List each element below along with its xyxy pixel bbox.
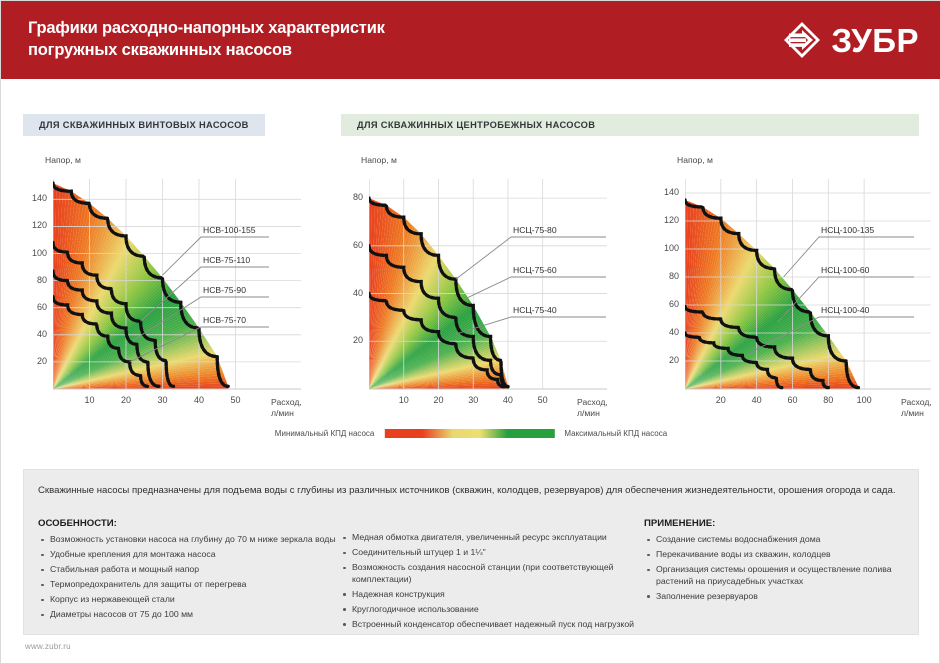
- x-axis-tick-label: 20: [112, 395, 140, 405]
- features-column-1: ОСОБЕННОСТИ: Возможность установки насос…: [38, 518, 338, 624]
- list-item: Круглогодичное использование: [340, 604, 640, 616]
- brand-name: ЗУБР: [831, 24, 919, 57]
- y-axis-tick-label: 60: [19, 302, 47, 312]
- x-axis-title-line1: Расход,: [577, 397, 608, 408]
- curve-label: НСЦ-75-80: [513, 225, 557, 235]
- chart-screw-pumps: Напор, мРасход,л/мин20406080100120140102…: [23, 151, 323, 416]
- list-item: Удобные крепления для монтажа насоса: [38, 549, 338, 561]
- x-axis-tick-label: 20: [707, 395, 735, 405]
- page-header: Графики расходно-напорных характеристик …: [1, 1, 940, 79]
- x-axis-tick-label: 10: [75, 395, 103, 405]
- legend-gradient-bar: [384, 429, 554, 438]
- y-axis-tick-label: 120: [19, 220, 47, 230]
- curve-label: НСВ-75-70: [203, 315, 246, 325]
- efficiency-legend: Минимальный КПД насоса Максимальный КПД …: [1, 429, 940, 451]
- curve-label: НСВ-75-110: [203, 255, 250, 265]
- y-axis-tick-label: 20: [19, 356, 47, 366]
- features-heading: ОСОБЕННОСТИ:: [38, 518, 338, 529]
- list-item: Создание системы водоснабжения дома: [644, 534, 914, 546]
- chart-centrifugal-75: Напор, мРасход,л/мин204060801020304050НС…: [341, 151, 631, 416]
- section-title-centrifugal-pumps-label: ДЛЯ СКВАЖИННЫХ ЦЕНТРОБЕЖНЫХ НАСОСОВ: [357, 120, 595, 130]
- list-item: Перекачивание воды из скважин, колодцев: [644, 549, 914, 561]
- x-axis-tick-label: 30: [148, 395, 176, 405]
- application-list: Создание системы водоснабжения домаПерек…: [644, 534, 914, 602]
- list-item: Соединительный штуцер 1 и 1¼": [340, 547, 640, 559]
- plot-area: [53, 179, 321, 393]
- page-title: Графики расходно-напорных характеристик …: [28, 17, 628, 61]
- y-axis-tick-label: 40: [335, 288, 363, 298]
- x-axis-title: Расход,л/мин: [901, 397, 932, 419]
- y-axis-tick-label: 100: [19, 248, 47, 258]
- y-axis-tick-label: 40: [19, 329, 47, 339]
- y-axis-tick-label: 40: [651, 327, 679, 337]
- x-axis-tick-label: 60: [778, 395, 806, 405]
- y-axis-tick-label: 140: [19, 193, 47, 203]
- x-axis-title-line1: Расход,: [901, 397, 932, 408]
- list-item: Стабильная работа и мощный напор: [38, 564, 338, 576]
- application-heading: ПРИМЕНЕНИЕ:: [644, 518, 914, 529]
- y-axis-tick-label: 80: [335, 192, 363, 202]
- curve-label: НСЦ-100-40: [821, 305, 869, 315]
- y-axis-tick-label: 80: [651, 271, 679, 281]
- features-list-2: Медная обмотка двигателя, увеличенный ре…: [340, 532, 640, 630]
- y-axis-tick-label: 120: [651, 215, 679, 225]
- legend-min-label: Минимальный КПД насоса: [275, 429, 375, 438]
- y-axis-title: Напор, м: [677, 155, 713, 165]
- efficiency-fan: [53, 179, 321, 389]
- x-axis-tick-label: 20: [424, 395, 452, 405]
- legend-max-label: Максимальный КПД насоса: [564, 429, 667, 438]
- y-axis-title: Напор, м: [361, 155, 397, 165]
- intro-paragraph: Скважинные насосы предназначены для подъ…: [38, 484, 904, 498]
- list-item: Заполнение резервуаров: [644, 591, 914, 603]
- list-item: Встроенный конденсатор обеспечивает наде…: [340, 619, 640, 631]
- x-axis-tick-label: 100: [850, 395, 878, 405]
- curve-label: НСЦ-75-40: [513, 305, 557, 315]
- brand-logo: ЗУБР: [782, 19, 919, 61]
- features-list-1: Возможность установки насоса на глубину …: [38, 534, 338, 621]
- list-item: Корпус из нержавеющей стали: [38, 594, 338, 606]
- x-axis-tick-label: 40: [494, 395, 522, 405]
- y-axis-tick-label: 20: [335, 335, 363, 345]
- list-item: Медная обмотка двигателя, увеличенный ре…: [340, 532, 640, 544]
- x-axis-title-line2: л/мин: [271, 408, 302, 419]
- y-axis-tick-label: 60: [335, 240, 363, 250]
- curve-label: НСЦ-75-60: [513, 265, 557, 275]
- arrow-diamond-icon: [782, 20, 822, 60]
- curve-label: НСВ-100-155: [203, 225, 256, 235]
- x-axis-title-line2: л/мин: [577, 408, 608, 419]
- page-title-line1: Графики расходно-напорных характеристик: [28, 17, 628, 39]
- callout-leader-line: [466, 277, 606, 298]
- list-item: Организация системы орошения и осуществл…: [644, 564, 914, 587]
- curve-label: НСЦ-100-60: [821, 265, 869, 275]
- x-axis-tick-label: 50: [221, 395, 249, 405]
- poster-page: Графики расходно-напорных характеристик …: [0, 0, 940, 664]
- efficiency-fan: [369, 179, 627, 389]
- chart-centrifugal-100: Напор, мРасход,л/мин20406080100120140204…: [651, 151, 940, 416]
- application-column: ПРИМЕНЕНИЕ: Создание системы водоснабжен…: [644, 518, 914, 606]
- y-axis-tick-label: 140: [651, 187, 679, 197]
- x-axis-tick-label: 10: [390, 395, 418, 405]
- x-axis-tick-label: 30: [459, 395, 487, 405]
- section-title-centrifugal-pumps: ДЛЯ СКВАЖИННЫХ ЦЕНТРОБЕЖНЫХ НАСОСОВ: [341, 114, 919, 136]
- section-title-screw-pumps: ДЛЯ СКВАЖИННЫХ ВИНТОВЫХ НАСОСОВ: [23, 114, 265, 136]
- plot-area: [685, 179, 940, 393]
- y-axis-tick-label: 100: [651, 243, 679, 253]
- x-axis-title: Расход,л/мин: [271, 397, 302, 419]
- list-item: Термопредохранитель для защиты от перегр…: [38, 579, 338, 591]
- x-axis-tick-label: 80: [814, 395, 842, 405]
- section-title-screw-pumps-label: ДЛЯ СКВАЖИННЫХ ВИНТОВЫХ НАСОСОВ: [39, 120, 249, 130]
- info-panel: Скважинные насосы предназначены для подъ…: [23, 469, 919, 635]
- y-axis-tick-label: 60: [651, 299, 679, 309]
- list-item: Возможность установки насоса на глубину …: [38, 534, 338, 546]
- x-axis-tick-label: 50: [529, 395, 557, 405]
- list-item: Диаметры насосов от 75 до 100 мм: [38, 609, 338, 621]
- page-title-line2: погружных скважинных насосов: [28, 39, 628, 61]
- y-axis-title: Напор, м: [45, 155, 81, 165]
- plot-area: [369, 179, 627, 393]
- list-item: Возможность создания насосной станции (п…: [340, 562, 640, 585]
- features-column-2: Медная обмотка двигателя, увеличенный ре…: [340, 518, 640, 634]
- x-axis-tick-label: 40: [743, 395, 771, 405]
- x-axis-title-line2: л/мин: [901, 408, 932, 419]
- x-axis-title-line1: Расход,: [271, 397, 302, 408]
- features-column-2-spacer: [340, 518, 640, 532]
- y-axis-tick-label: 20: [651, 355, 679, 365]
- curve-label: НСЦ-100-135: [821, 225, 874, 235]
- curve-label: НСВ-75-90: [203, 285, 246, 295]
- x-axis-title: Расход,л/мин: [577, 397, 608, 419]
- y-axis-tick-label: 80: [19, 275, 47, 285]
- x-axis-tick-label: 40: [185, 395, 213, 405]
- footer-website: www.zubr.ru: [25, 642, 71, 651]
- list-item: Надежная конструкция: [340, 589, 640, 601]
